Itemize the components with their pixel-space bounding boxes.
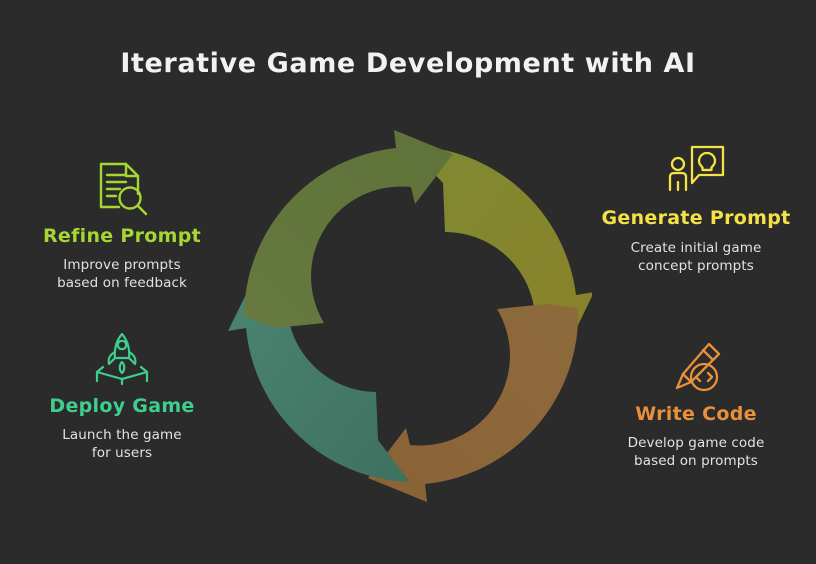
cycle-segment-refine [244, 130, 453, 328]
step-generate-prompt: Generate Prompt Create initial game conc… [588, 140, 804, 275]
document-search-icon [14, 158, 230, 220]
pencil-code-icon [588, 336, 804, 398]
step-write-code: Write Code Develop game code based on pr… [588, 336, 804, 471]
page-title: Iterative Game Development with AI [0, 48, 816, 79]
rocket-launch-icon [14, 328, 230, 390]
step-write-code-title: Write Code [588, 404, 804, 425]
step-write-code-description: Develop game code based on prompts [588, 434, 804, 470]
step-generate-prompt-title: Generate Prompt [588, 208, 804, 230]
infographic-canvas: Iterative Game Development with AI [0, 0, 816, 564]
step-deploy-game-title: Deploy Game [14, 396, 230, 417]
step-refine-prompt: Refine Prompt Improve prompts based on f… [14, 158, 230, 293]
person-lightbulb-bubble-icon [588, 140, 804, 202]
step-deploy-game-description: Launch the game for users [14, 426, 230, 462]
step-refine-prompt-title: Refine Prompt [14, 226, 230, 247]
cycle-diagram [228, 128, 592, 502]
step-refine-prompt-description: Improve prompts based on feedback [14, 256, 230, 292]
step-generate-prompt-description: Create initial game concept prompts [588, 239, 804, 275]
step-deploy-game: Deploy Game Launch the game for users [14, 328, 230, 463]
